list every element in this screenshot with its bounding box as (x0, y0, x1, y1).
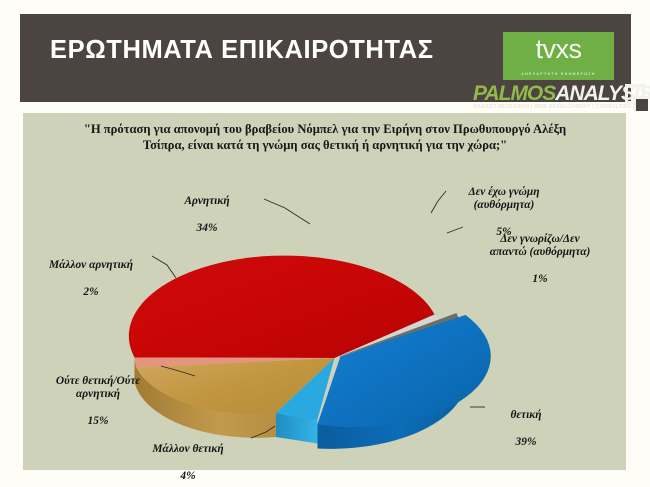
palmos-tagline: MARKET RESEARCH | WEB DEVELOPMENT | CONS… (473, 104, 625, 110)
pie-label-den-gnwrizw: Δεν γνωρίζω/Δεν απαντώ (αυθόρμητα) 1% (460, 219, 620, 287)
page-title: ΕΡΩΤΗΜΑΤΑ ΕΠΙΚΑΙΡΟΤΗΤΑΣ (50, 36, 434, 65)
leader-line-mallon-arnitiki (152, 256, 176, 278)
pie-label-oute-pct: 15% (88, 415, 109, 427)
pie-label-den-exw-gnwmi-text: Δεν έχω γνώμη (αυθόρμητα) (468, 186, 539, 212)
pie-label-thetiki-text: θετική (510, 409, 541, 421)
pie-label-thetiki: θετική 39% (481, 395, 571, 449)
pie-label-mallon-thetiki-pct: 4% (180, 470, 195, 482)
tvxs-wordmark: tvxs (503, 34, 614, 64)
pie-label-arnitiki-pct: 34% (197, 222, 218, 234)
tvxs-logo-box: tvxs ΑΝΕΞΑΡΤΗΤΗ ΕΝΗΜΕΡΩΣΗ (503, 32, 614, 80)
pie-label-mallon-arnitiki: Μάλλον αρνητική 2% (29, 245, 153, 299)
pie-label-arnitiki: Αρνητική 34% (147, 181, 267, 235)
pie-label-mallon-thetiki: Μάλλον θετική 4% (123, 429, 253, 483)
palmos-word-first: PALMOS (473, 82, 555, 106)
slide-canvas: ΕΡΩΤΗΜΑΤΑ ΕΠΙΚΑΙΡΟΤΗΤΑΣ tvxs ΑΝΕΞΑΡΤΗΤΗ … (0, 0, 650, 487)
pie-label-den-gnwrizw-pct: 1% (532, 273, 547, 285)
pie-label-mallon-arnitiki-pct: 2% (83, 286, 98, 298)
pie-label-oute-text: Ούτε θετική/Ούτε αρνητική (56, 375, 140, 401)
tvxs-tagline: ΑΝΕΞΑΡΤΗΤΗ ΕΝΗΜΕΡΩΣΗ (503, 72, 614, 76)
header-bar: ΕΡΩΤΗΜΑΤΑ ΕΠΙΚΑΙΡΟΤΗΤΑΣ tvxs ΑΝΕΞΑΡΤΗΤΗ … (20, 14, 631, 102)
brand-logo-block: tvxs ΑΝΕΞΑΡΤΗΤΗ ΕΝΗΜΕΡΩΣΗ PALMOS ANALYSI… (473, 30, 650, 116)
leader-line-arnitiki (264, 199, 310, 224)
pie-label-oute: Ούτε θετική/Ούτε αρνητική 15% (33, 361, 163, 429)
chart-panel: "Η πρόταση για απονομή του βραβείου Νόμπ… (23, 113, 626, 470)
palmos-square-icon (625, 84, 645, 104)
pie-label-mallon-thetiki-text: Μάλλον θετική (152, 443, 223, 455)
pie-label-mallon-arnitiki-text: Μάλλον αρνητική (49, 259, 133, 271)
pie-label-den-gnwrizw-text: Δεν γνωρίζω/Δεν απαντώ (αυθόρμητα) (490, 233, 591, 259)
palmos-wordmark: PALMOS ANALYSIS (473, 82, 650, 104)
pie-label-arnitiki-text: Αρνητική (184, 195, 229, 207)
pie-label-thetiki-pct: 39% (516, 436, 537, 448)
